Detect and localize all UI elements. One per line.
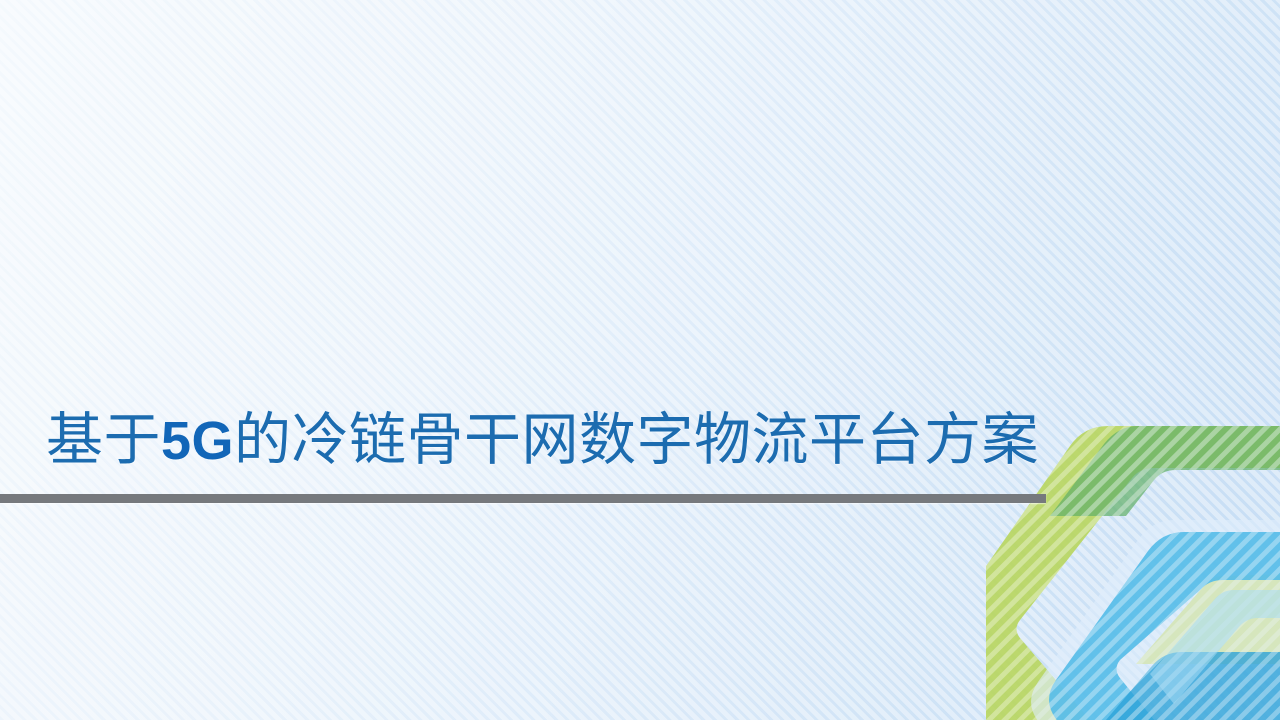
- title-block: 基于5G的冷链骨干网数字物流平台方案: [0, 404, 1046, 503]
- title-divider-rule: [0, 494, 1046, 503]
- title-highlight: 5G: [161, 411, 234, 471]
- title-prefix: 基于: [46, 409, 161, 472]
- slide-canvas: 基于5G的冷链骨干网数字物流平台方案: [0, 0, 1280, 720]
- background-texture: [0, 0, 1280, 720]
- slide-title: 基于5G的冷链骨干网数字物流平台方案: [0, 404, 1046, 478]
- title-suffix: 的冷链骨干网数字物流平台方案: [234, 409, 1039, 472]
